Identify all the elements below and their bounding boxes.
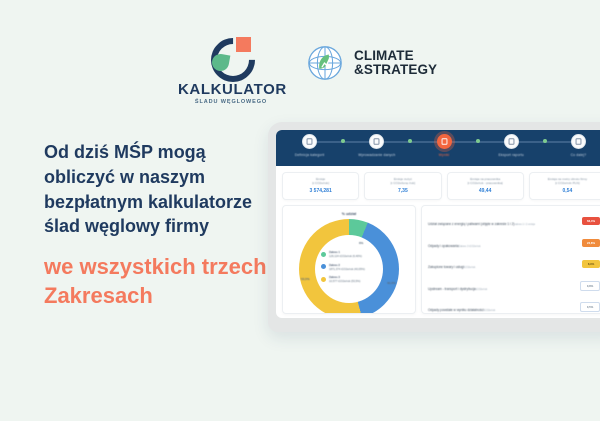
document-icon[interactable] <box>369 134 384 149</box>
legend-color-swatch <box>321 252 326 257</box>
hotspot-badge: 22,8% <box>582 239 600 247</box>
hotspot-text: Upstream - transport i dystrybucjatCO2e/… <box>428 277 576 295</box>
cs-line-2: &STRATEGY <box>354 63 437 77</box>
hotspot-list: Udział związane z energią i paliwami (ob… <box>422 206 600 314</box>
kpi-subtitle: [t CO2e/tonę /rok] <box>367 181 438 185</box>
wizard-stepper[interactable]: Definicja kategoriiWprowadzanie danychWy… <box>276 134 600 166</box>
chart-icon[interactable] <box>437 134 452 149</box>
donut-chart: 6% 40,4% 53,5% Zakres 1129,124 tCO2e/rok… <box>299 219 399 314</box>
stepper-step-3[interactable]: Wyniki <box>410 134 477 157</box>
chart-title: % udział <box>283 212 415 216</box>
stepper-connector-dot <box>476 139 480 143</box>
hotspot-row[interactable]: Odpady powstałe w wyniku działalnościtCO… <box>428 298 600 314</box>
stepper-step-1[interactable]: Definicja kategorii <box>276 134 343 157</box>
download-icon[interactable] <box>504 134 519 149</box>
kpi-card: Emisja na metry obrotu firmy[t CO2e/mln … <box>529 172 600 200</box>
legend-item: Zakres 310,577 tCO2e/rok (53,5%) <box>321 276 383 284</box>
hotspot-title: Upstream - transport i dystrybucja <box>428 287 476 291</box>
kpi-card: Emisje zużyć[t CO2e/tonę /rok]7,35 <box>364 172 441 200</box>
hotspot-title: Odpady i opakowania <box>428 244 459 248</box>
chart-panel: % udział 6% 40,4% 53,5% Zakres 1129,124 … <box>282 205 416 314</box>
hotspot-title: Zakupione towary i usługi <box>428 265 464 269</box>
legend-item: Zakres 21871,374 tCO2e/rok (40,05%) <box>321 264 383 272</box>
hotspot-text: Odpady powstałe w wyniku działalnościtCO… <box>428 298 576 314</box>
square-shape <box>236 37 251 52</box>
kpi-card-row: Emisje[t CO2e/rok]3 574,281Emisje zużyć[… <box>282 172 600 200</box>
hotspot-title: Odpady powstałe w wyniku działalności <box>428 308 484 312</box>
hotspot-row[interactable]: Odpady i opakowaniaZakres 3 tCO2e/rok22,… <box>428 234 600 252</box>
app-screen: Definicja kategoriiWprowadzanie danychWy… <box>276 130 600 318</box>
kalkulator-wordmark: KALKULATOR <box>178 82 284 97</box>
kpi-subtitle: [t CO2e/rok] <box>285 181 356 185</box>
hotspot-text: Zakupione towary i usługitCO2e/rok <box>428 255 578 273</box>
kpi-subtitle: [t CO2e/rok - pracownika] <box>450 181 521 185</box>
headline-block: Od dziś MŚP mogą obliczyć w naszym bezpł… <box>44 140 269 311</box>
legend-text: Zakres 1129,124 tCO2e/rok (6,40%) <box>329 251 362 259</box>
stepper-step-label: Eksport raportu <box>478 153 545 157</box>
hotspot-row[interactable]: Udział związane z energią i paliwami (ob… <box>428 212 600 230</box>
logo-row: KALKULATOR ŚLADU WĘGLOWEGO CLIMATE &STRA… <box>0 36 600 98</box>
kpi-subtitle: [t CO2e/mln PLN] <box>532 181 600 185</box>
hotspot-subtitle: tCO2e/rok <box>464 266 475 269</box>
carbon-calculator-c-mark-icon <box>208 36 254 78</box>
legend-color-swatch <box>321 277 326 282</box>
hotspot-subtitle: Zakres 3 tCO2e/rok <box>459 245 481 248</box>
stepper-step-2[interactable]: Wprowadzanie danych <box>343 134 410 157</box>
hotspot-subtitle: zakres 1 i 2 emisje <box>514 223 535 226</box>
legend-text: Zakres 310,577 tCO2e/rok (53,5%) <box>329 276 360 284</box>
kpi-card: Emisje[t CO2e/rok]3 574,281 <box>282 172 359 200</box>
kpi-value: 3 574,281 <box>285 188 356 194</box>
form-icon[interactable] <box>302 134 317 149</box>
hotspot-text: Udział związane z energią i paliwami (ob… <box>428 212 578 230</box>
hotspot-subtitle: tCO2e/rok <box>476 288 487 291</box>
stepper-step-label: Co dalej? <box>545 153 600 157</box>
hotspot-text: Odpady i opakowaniaZakres 3 tCO2e/rok <box>428 234 578 252</box>
legend-text: Zakres 21871,374 tCO2e/rok (40,05%) <box>329 264 365 272</box>
results-panels: % udział 6% 40,4% 53,5% Zakres 1129,124 … <box>282 205 600 314</box>
headline-primary: Od dziś MŚP mogą obliczyć w naszym bezpł… <box>44 140 269 239</box>
kpi-card: Emisja na pracownika[t CO2e/rok - pracow… <box>447 172 524 200</box>
stepper-step-5[interactable]: Co dalej? <box>545 134 600 157</box>
globe-leaf-icon <box>306 44 344 82</box>
slice-label-2: 40,4% <box>387 281 396 285</box>
climate-strategy-wordmark: CLIMATE &STRATEGY <box>354 49 437 77</box>
cs-line-1: CLIMATE <box>354 49 437 63</box>
hotspot-row[interactable]: Zakupione towary i usługitCO2e/rok8,9% <box>428 255 600 273</box>
stepper-connector-dot <box>543 139 547 143</box>
kpi-value: 7,35 <box>367 188 438 194</box>
stepper-step-label: Definicja kategorii <box>276 153 343 157</box>
device-mockup: Definicja kategoriiWprowadzanie danychWy… <box>268 122 600 332</box>
kalkulator-logo: KALKULATOR ŚLADU WĘGLOWEGO <box>178 36 284 106</box>
hotspot-badge: 0,5% <box>580 302 600 312</box>
hotspot-row[interactable]: Upstream - transport i dystrybucjatCO2e/… <box>428 277 600 295</box>
stepper-step-4[interactable]: Eksport raportu <box>478 134 545 157</box>
headline-accent: we wszystkich trzech Zakresach <box>44 253 269 310</box>
hotspots-panel: Udział związane z energią i paliwami (ob… <box>421 205 600 314</box>
chart-legend: Zakres 1129,124 tCO2e/rok (6,40%)Zakres … <box>321 251 383 284</box>
legend-item: Zakres 1129,124 tCO2e/rok (6,40%) <box>321 251 383 259</box>
hotspot-subtitle: tCO2e/rok <box>484 309 495 312</box>
hotspot-badge: 0,8% <box>580 281 600 291</box>
stepper-step-label: Wyniki <box>410 153 477 157</box>
kalkulator-subtitle: ŚLADU WĘGLOWEGO <box>178 100 284 106</box>
kpi-value: 49,44 <box>450 188 521 194</box>
poster-canvas: KALKULATOR ŚLADU WĘGLOWEGO CLIMATE &STRA… <box>0 0 600 421</box>
climate-strategy-logo: CLIMATE &STRATEGY <box>306 40 437 86</box>
hotspot-title: Udział związane z energią i paliwami (ob… <box>428 222 514 226</box>
slice-label-1: 6% <box>359 241 363 245</box>
help-icon[interactable] <box>571 134 586 149</box>
stepper-step-label: Wprowadzanie danych <box>343 153 410 157</box>
hotspot-badge: 8,9% <box>582 260 600 268</box>
hotspot-badge: 66,4% <box>582 217 600 225</box>
legend-color-swatch <box>321 264 326 269</box>
slice-label-3: 53,5% <box>301 277 310 281</box>
kpi-value: 0,54 <box>532 188 600 194</box>
